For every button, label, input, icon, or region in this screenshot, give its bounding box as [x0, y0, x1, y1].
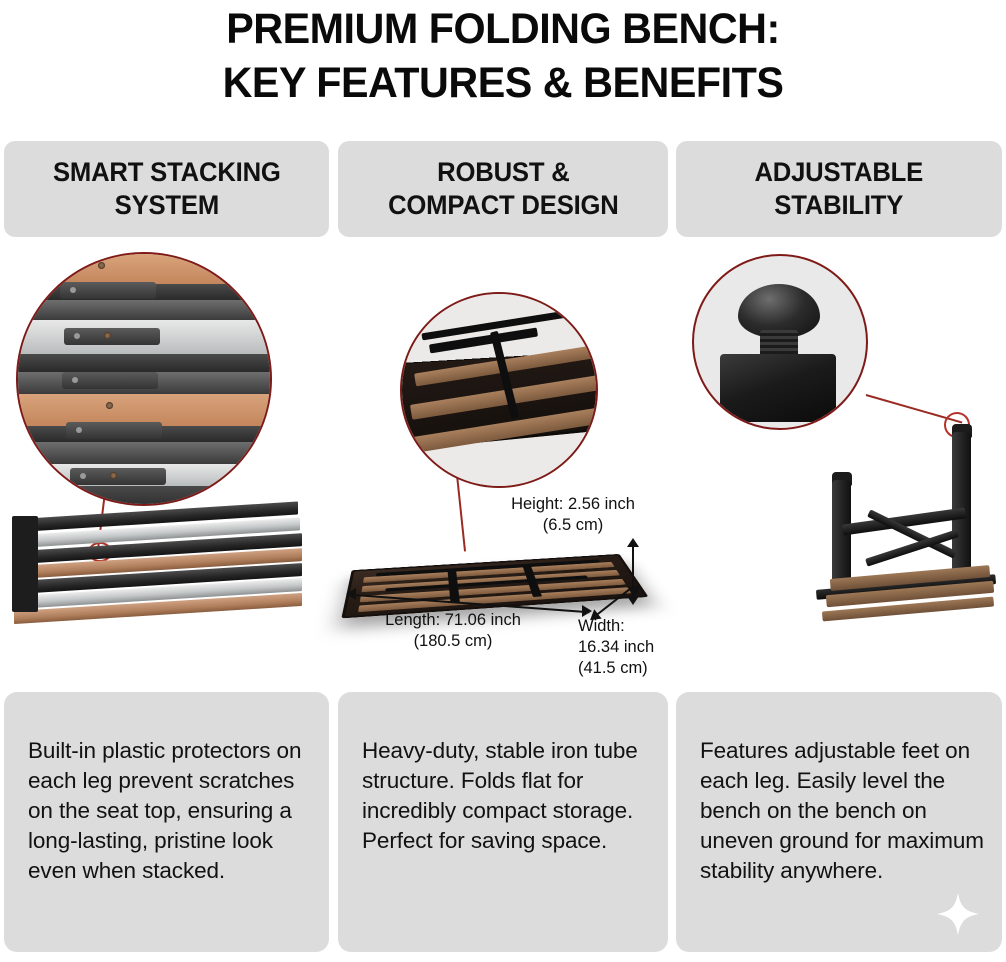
magnifier-content [18, 254, 270, 504]
magnifier-content [694, 256, 866, 428]
stacked-benches-photo [12, 502, 312, 622]
feature-header-robust-compact: ROBUST & COMPACT DESIGN [338, 141, 668, 237]
feature-header-smart-stacking: SMART STACKING SYSTEM [4, 141, 329, 237]
upside-down-bench-photo [816, 422, 1002, 612]
feature-header-label: ADJUSTABLE STABILITY [755, 156, 924, 222]
dimension-height-label: Height: 2.56 inch (6.5 cm) [488, 494, 658, 536]
description-text: Heavy-duty, stable iron tube structure. … [362, 736, 650, 856]
image-stacking-system [4, 244, 329, 684]
title-line-1: PREMIUM FOLDING BENCH: [20, 2, 986, 56]
description-text: Features adjustable feet on each leg. Ea… [700, 736, 984, 886]
description-compact-design: Heavy-duty, stable iron tube structure. … [338, 692, 668, 952]
feature-header-label: SMART STACKING SYSTEM [53, 156, 281, 222]
description-adjustable-stability: Features adjustable feet on each leg. Ea… [676, 692, 1002, 952]
leg-bracket [60, 282, 156, 299]
leg-bracket [62, 372, 158, 389]
infographic-root: PREMIUM FOLDING BENCH: KEY FEATURES & BE… [0, 0, 1006, 962]
magnifier-circle-stacking [16, 252, 272, 506]
dimension-length-label: Length: 71.06 inch (180.5 cm) [348, 610, 558, 652]
leg-bracket [66, 422, 162, 439]
feature-header-label: ROBUST & COMPACT DESIGN [388, 156, 619, 222]
magnifier-circle-adjustable-foot [692, 254, 868, 430]
sparkle-icon [936, 892, 980, 936]
leg-bracket [64, 328, 160, 345]
description-text: Built-in plastic protectors on each leg … [28, 736, 311, 886]
title-line-2: KEY FEATURES & BENEFITS [20, 56, 986, 110]
description-row: Built-in plastic protectors on each leg … [0, 692, 1006, 954]
image-compact-design: Height: 2.56 inch (6.5 cm) Len [338, 244, 668, 684]
leg-bracket [70, 468, 166, 485]
page-title: PREMIUM FOLDING BENCH: KEY FEATURES & BE… [0, 2, 1006, 110]
image-adjustable-stability [676, 244, 1002, 684]
magnifier-circle-folded-frame [400, 292, 598, 488]
magnifier-content [402, 294, 596, 486]
foot-base [720, 354, 836, 422]
description-stacking-system: Built-in plastic protectors on each leg … [4, 692, 329, 952]
feature-header-adjustable-stability: ADJUSTABLE STABILITY [676, 141, 1002, 237]
feature-header-row: SMART STACKING SYSTEM ROBUST & COMPACT D… [0, 141, 1006, 237]
